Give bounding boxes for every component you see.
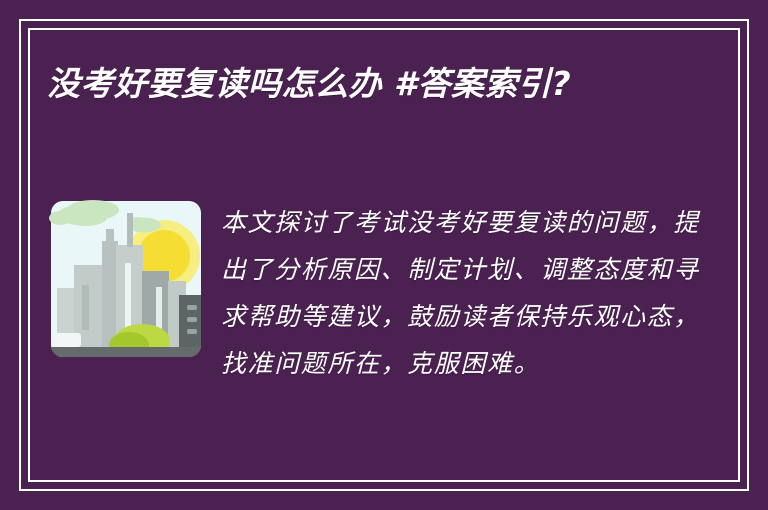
article-cover-card: 没考好要复读吗怎么办 #答案索引? (0, 0, 768, 510)
building-center-stripe (125, 263, 131, 329)
article-title: 没考好要复读吗怎么办 #答案索引? (47, 56, 647, 111)
building-darkest-window-3 (187, 329, 197, 334)
content-row: 本文探讨了考试没考好要复读的问题，提出了分析原因、制定计划、调整态度和寻求帮助等… (47, 193, 718, 387)
building-darkest-window-1 (187, 305, 197, 310)
article-summary: 本文探讨了考试没考好要复读的问题，提出了分析原因、制定计划、调整态度和寻求帮助等… (221, 193, 718, 387)
building-darkest-window-2 (187, 317, 197, 322)
city-skyline-illustration (47, 193, 205, 369)
building-tower-left-cap (106, 229, 114, 243)
low-building-block (55, 333, 81, 347)
antenna-mast (127, 213, 133, 247)
ground-strip (47, 347, 205, 357)
building-right-mid-stripe (156, 287, 162, 332)
building-left-window (82, 285, 89, 330)
